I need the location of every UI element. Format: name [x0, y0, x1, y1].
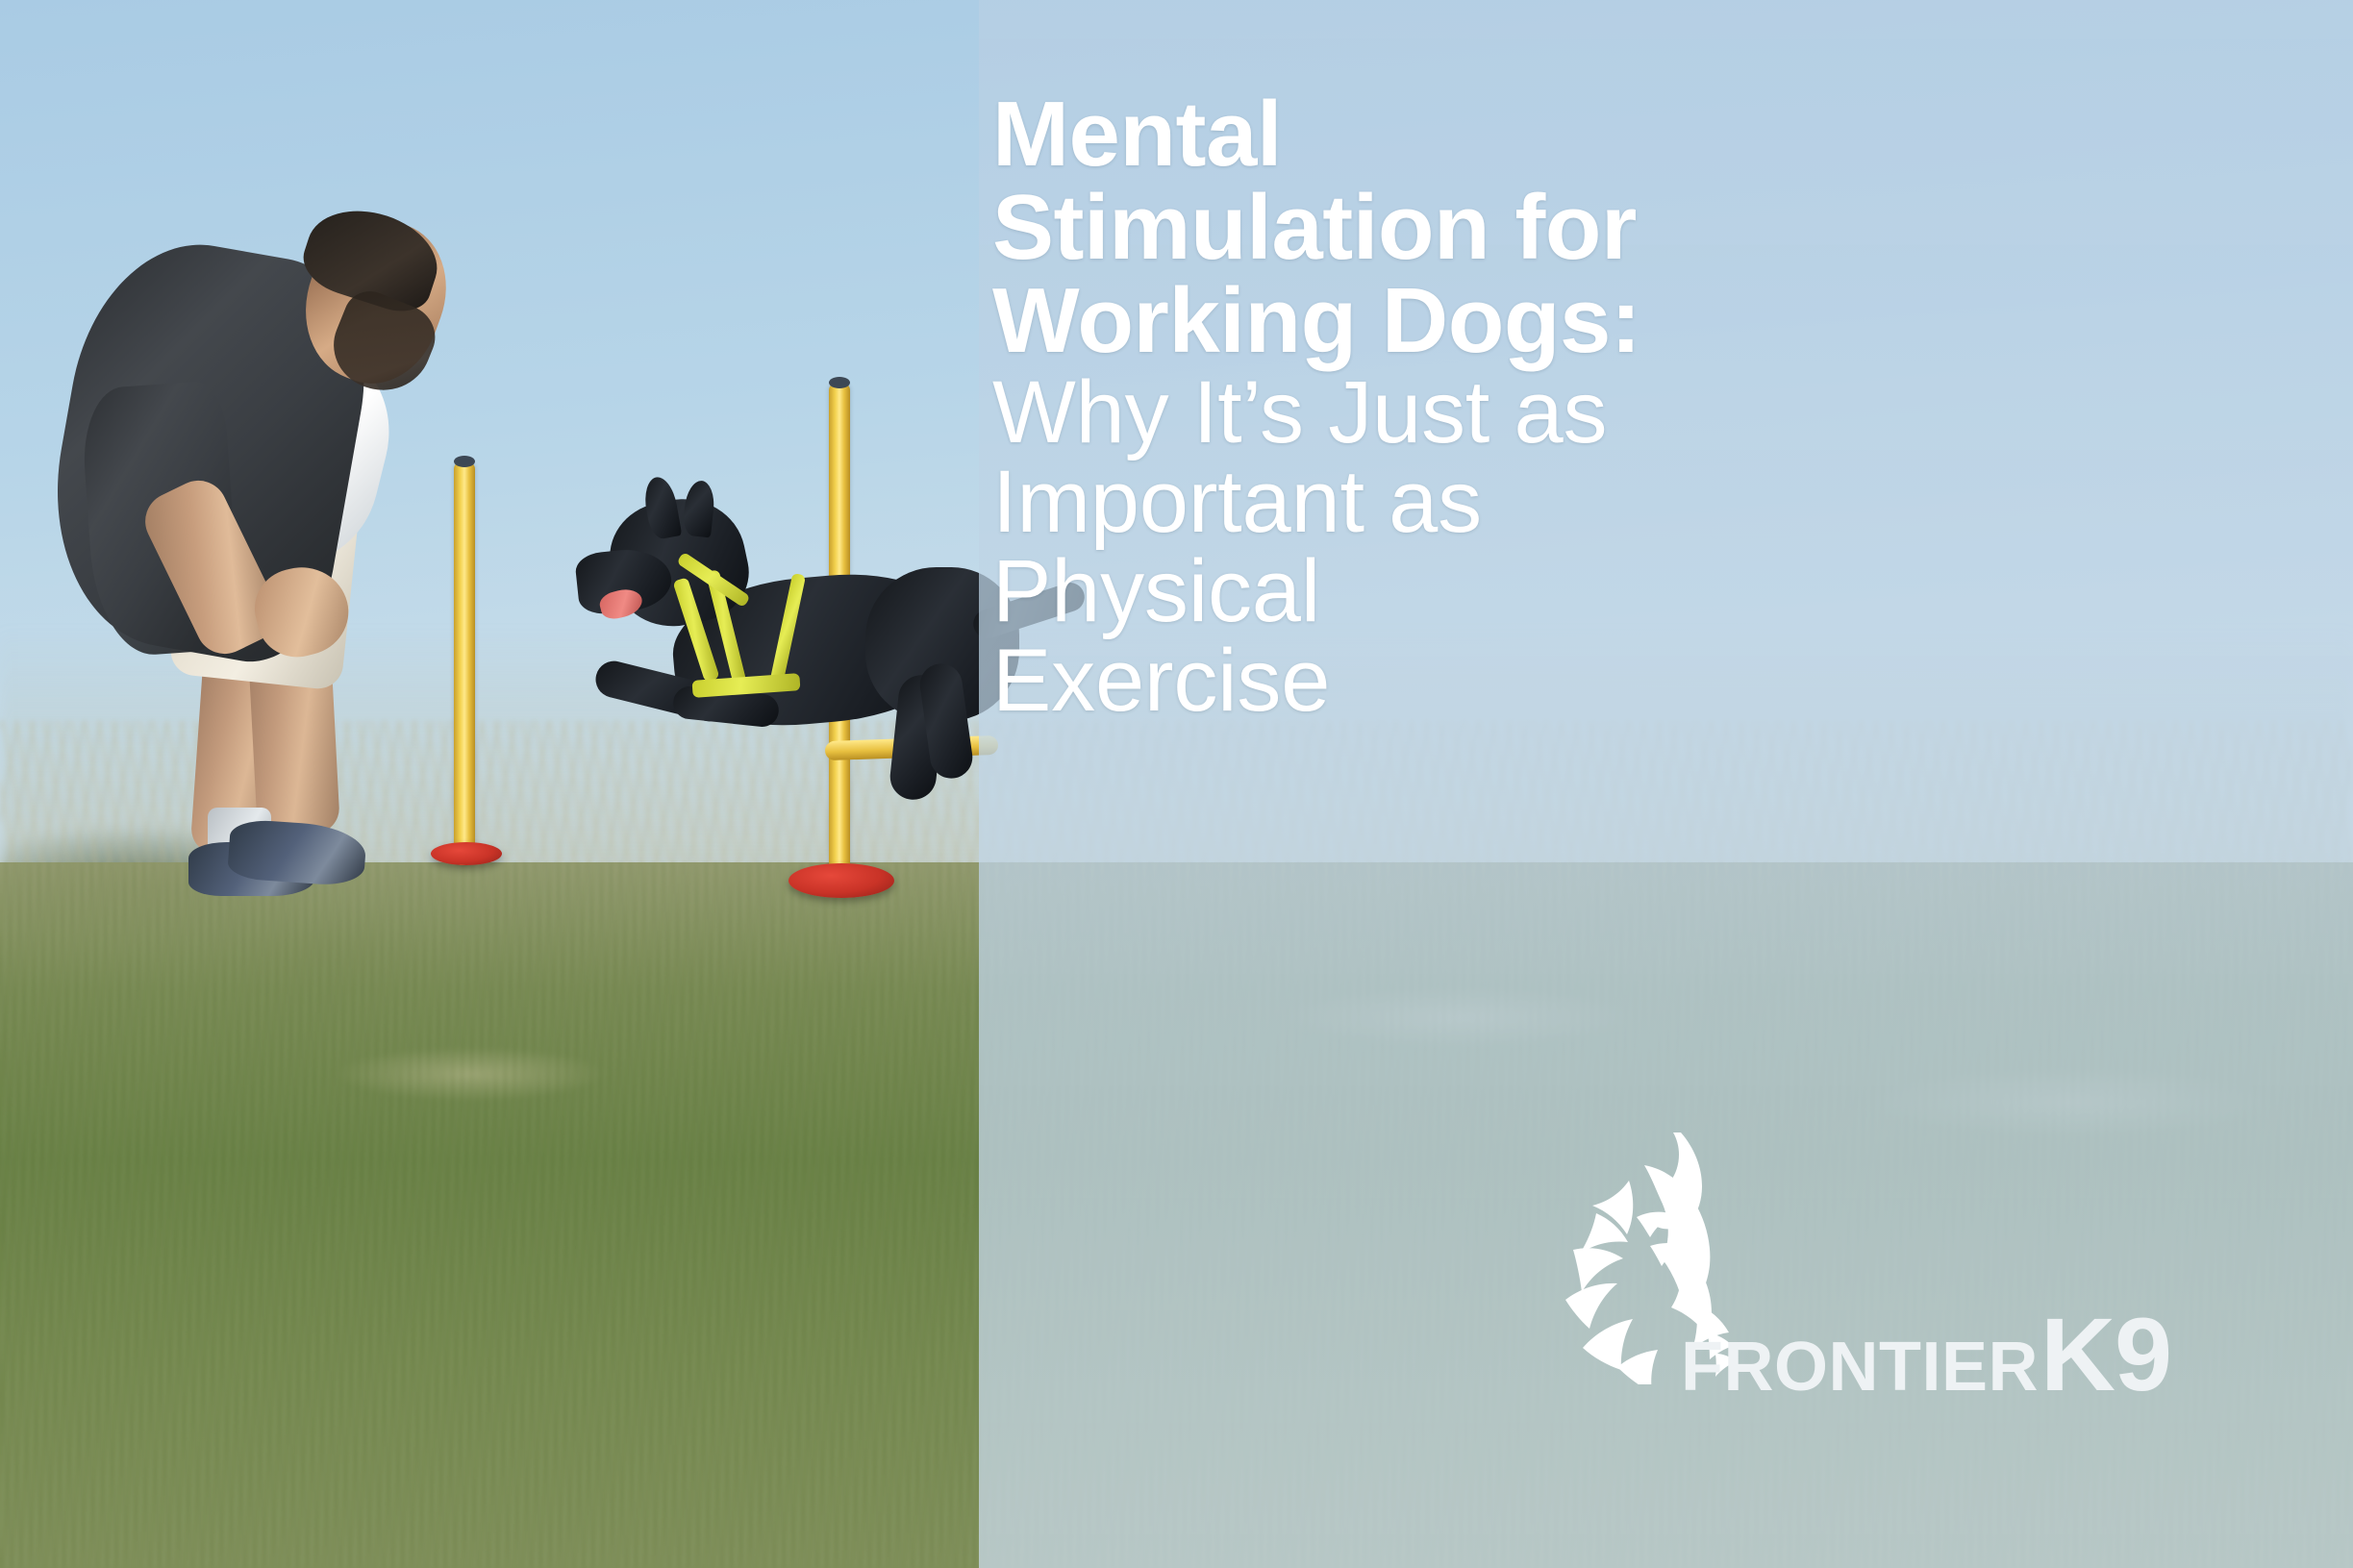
title-line-3: Working Dogs: — [992, 275, 2339, 368]
logo-word-frontier: FRONTIER — [1681, 1332, 2039, 1402]
brand-logo: FRONTIER K9 — [1537, 1134, 2335, 1423]
blog-banner: This Week’s Blog Mental Stimulation for … — [0, 0, 2353, 1568]
title-line-5: Important as — [992, 458, 2339, 547]
title-line-6: Physical — [992, 547, 2339, 636]
title-line-1: Mental — [992, 88, 2339, 182]
page-title: Mental Stimulation for Working Dogs: Why… — [992, 88, 2339, 725]
agility-pole-left-base — [431, 842, 502, 865]
title-line-7: Exercise — [992, 636, 2339, 726]
agility-pole-right-base — [789, 863, 894, 898]
title-line-2: Stimulation for — [992, 182, 2339, 275]
agility-pole-left — [454, 461, 475, 865]
title-line-4: Why It’s Just as — [992, 368, 2339, 458]
logo-word-k9: K9 — [2040, 1312, 2171, 1398]
logo-wordmark: FRONTIER K9 — [1681, 1312, 2171, 1402]
